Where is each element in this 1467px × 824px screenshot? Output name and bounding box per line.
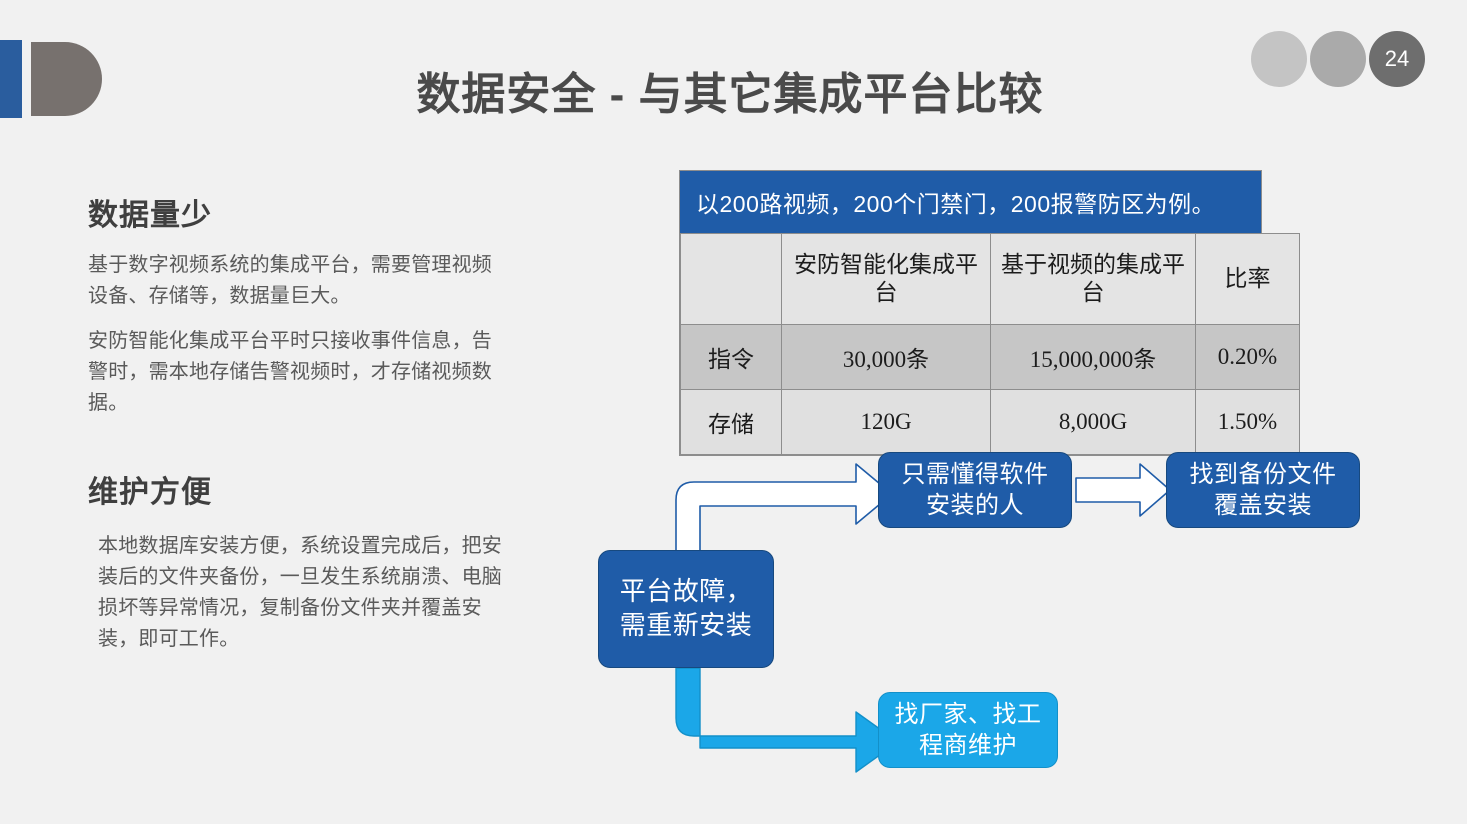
table-row: 指令 30,000条 15,000,000条 0.20%: [681, 325, 1300, 390]
page-title: 数据安全 - 与其它集成平台比较: [370, 58, 1090, 122]
table-header-cell-ratio: 比率: [1196, 234, 1300, 325]
page-dot-1: [1251, 31, 1307, 87]
page-dot-3: 24: [1369, 31, 1425, 87]
flow-node-restore-backup-line1: 找到备份文件: [1190, 459, 1337, 490]
paragraph-data-volume-1: 基于数字视频系统的集成平台，需要管理视频设备、存储等，数据量巨大。: [88, 250, 508, 312]
table-header-cell-platform-a: 安防智能化集成平台: [782, 234, 991, 325]
section-maintenance: 维护方便 本地数据库安装方便，系统设置完成后，把安装后的文件夹备份，一旦发生系统…: [88, 467, 508, 655]
paragraph-data-volume-2: 安防智能化集成平台平时只接收事件信息，告警时，需本地存储告警视频时，才存储视频数…: [88, 326, 508, 419]
section-heading-maintenance: 维护方便: [88, 467, 508, 511]
flow-node-installer-line1: 只需懂得软件: [902, 459, 1049, 490]
flow-node-platform-failure[interactable]: 平台故障， 需重新安装: [598, 550, 774, 668]
flow-node-platform-failure-line2: 需重新安装: [620, 609, 753, 643]
section-heading-data-volume: 数据量少: [88, 190, 508, 234]
brand-logo: [0, 40, 110, 118]
flow-node-installer-line2: 安装的人: [902, 490, 1049, 521]
arrow-start-to-installer: [676, 464, 892, 552]
flow-diagram: 平台故障， 需重新安装 只需懂得软件 安装的人 找到备份文件 覆盖安装 找厂家、…: [580, 430, 1380, 790]
logo-d-shape: [31, 42, 102, 116]
flow-node-installer[interactable]: 只需懂得软件 安装的人: [878, 452, 1072, 528]
flow-node-restore-backup-line2: 覆盖安装: [1190, 490, 1337, 521]
flow-node-platform-failure-line1: 平台故障，: [620, 575, 753, 609]
logo-bar-shape: [0, 40, 22, 118]
left-content-column: 数据量少 基于数字视频系统的集成平台，需要管理视频设备、存储等，数据量巨大。 安…: [88, 190, 508, 669]
table-grid: 安防智能化集成平台 基于视频的集成平台 比率 指令 30,000条 15,000…: [680, 233, 1300, 455]
flow-node-vendor-maintenance-line1: 找厂家、找工: [895, 699, 1042, 730]
arrow-start-to-vendor: [676, 668, 898, 772]
flow-node-vendor-maintenance-line2: 程商维护: [895, 730, 1042, 761]
table-caption: 以200路视频，200个门禁门，200报警防区为例。: [680, 171, 1261, 233]
table-cell-row0-platform-a: 30,000条: [782, 325, 991, 390]
table-cell-row0-ratio: 0.20%: [1196, 325, 1300, 390]
paragraph-maintenance-1: 本地数据库安装方便，系统设置完成后，把安装后的文件夹备份，一旦发生系统崩溃、电脑…: [88, 531, 508, 655]
page-indicator: 24: [1248, 31, 1425, 87]
arrow-installer-to-restore: [1076, 464, 1170, 516]
section-data-volume: 数据量少 基于数字视频系统的集成平台，需要管理视频设备、存储等，数据量巨大。 安…: [88, 190, 508, 419]
page-number: 24: [1369, 31, 1425, 87]
comparison-table: 以200路视频，200个门禁门，200报警防区为例。 安防智能化集成平台 基于视…: [679, 170, 1262, 456]
table-header-row: 安防智能化集成平台 基于视频的集成平台 比率: [681, 234, 1300, 325]
flow-node-vendor-maintenance[interactable]: 找厂家、找工 程商维护: [878, 692, 1058, 768]
page-dot-2: [1310, 31, 1366, 87]
table-header-cell-blank: [681, 234, 782, 325]
slide-canvas: 数据安全 - 与其它集成平台比较 24 数据量少 基于数字视频系统的集成平台，需…: [0, 0, 1467, 824]
table-cell-row0-platform-b: 15,000,000条: [991, 325, 1196, 390]
table-header-cell-platform-b: 基于视频的集成平台: [991, 234, 1196, 325]
table-cell-row0-label: 指令: [681, 325, 782, 390]
flow-node-restore-backup[interactable]: 找到备份文件 覆盖安装: [1166, 452, 1360, 528]
